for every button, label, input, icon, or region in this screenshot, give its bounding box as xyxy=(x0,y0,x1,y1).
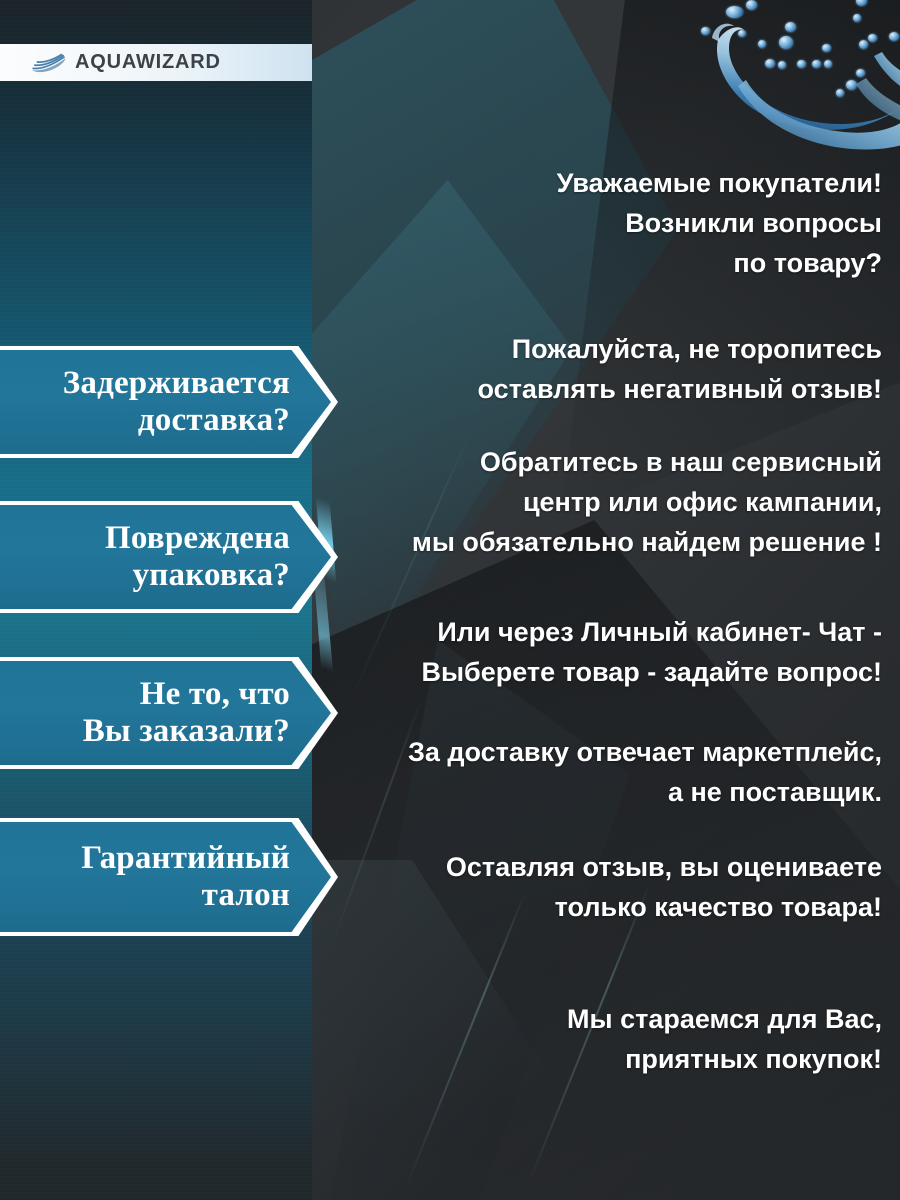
water-wave-icon xyxy=(30,53,68,73)
banner-label: Не то, что Вы заказали? xyxy=(83,676,338,750)
message-column: Уважаемые покупатели! Возникли вопросы п… xyxy=(330,0,900,1200)
brand-logo-bar: AQUAWIZARD xyxy=(0,44,312,81)
brand-logo: AQUAWIZARD xyxy=(30,51,221,74)
message-paragraph: Пожалуйста, не торопитесь оставлять нега… xyxy=(330,330,882,410)
banner-delivery-delayed[interactable]: Задерживается доставка? xyxy=(0,346,338,458)
message-paragraph: Мы стараемся для Вас, приятных покупок! xyxy=(330,1000,882,1080)
banner-warranty-card[interactable]: Гарантийный талон xyxy=(0,818,338,936)
banner-damaged-packaging[interactable]: Повреждена упаковка? xyxy=(0,501,338,613)
banner-label: Задерживается доставка? xyxy=(63,365,338,439)
banner-label: Гарантийный талон xyxy=(81,840,338,914)
banner-label: Повреждена упаковка? xyxy=(105,520,338,594)
brand-name: AQUAWIZARD xyxy=(75,51,221,74)
message-paragraph: Обратитесь в наш сервисный центр или офи… xyxy=(330,443,882,563)
message-paragraph: Или через Личный кабинет- Чат - Выберете… xyxy=(330,613,882,693)
message-paragraph: За доставку отвечает маркетплейс, а не п… xyxy=(330,733,882,813)
banner-wrong-item[interactable]: Не то, что Вы заказали? xyxy=(0,657,338,769)
promo-poster: AQUAWIZARD Задерживается доставка? Повре… xyxy=(0,0,900,1200)
message-paragraph: Оставляя отзыв, вы оцениваете только кач… xyxy=(330,848,882,928)
message-paragraph: Уважаемые покупатели! Возникли вопросы п… xyxy=(330,164,882,284)
